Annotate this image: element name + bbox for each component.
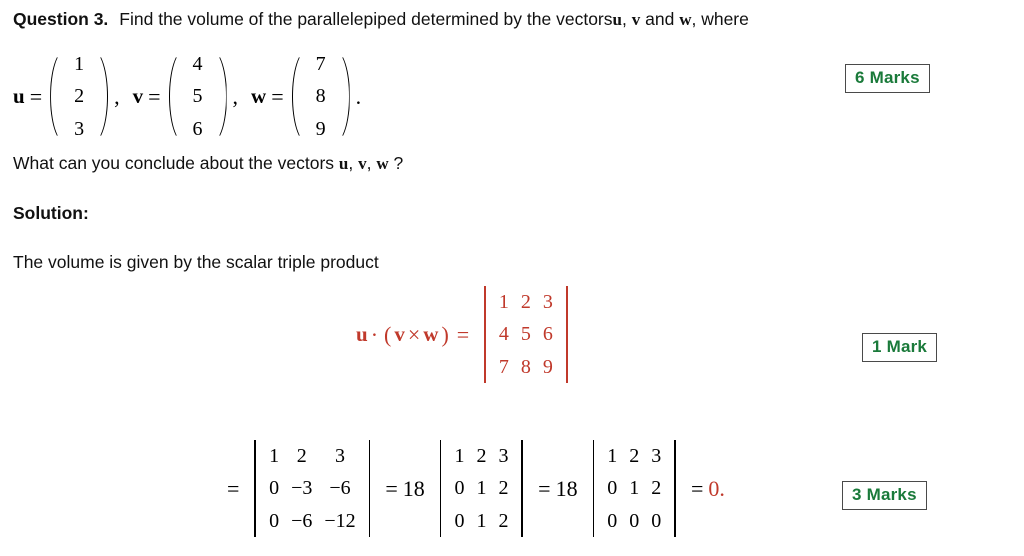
determinant-original-grid: 1 2 3 4 5 6 7 8 9 xyxy=(493,286,559,383)
marks-badge-3-marks: 3 Marks xyxy=(842,481,927,510)
right-paren-icon xyxy=(212,48,228,145)
solution-heading: Solution: xyxy=(13,203,89,225)
worksheet-page: Question 3.Find the volume of the parall… xyxy=(0,0,1024,556)
determinant-bar-left xyxy=(440,440,442,537)
inline-tail: , where xyxy=(691,9,748,29)
det-cell: 0 xyxy=(645,505,667,537)
question-statement: Question 3.Find the volume of the parall… xyxy=(13,9,749,31)
determinant-step-2: 1 2 3 0 1 2 0 1 2 xyxy=(433,440,530,537)
left-paren-icon xyxy=(291,48,307,145)
scalar-triple-product-equation: u · ( v × w ) = 1 2 3 4 5 6 7 8 9 xyxy=(356,286,578,383)
det-cell: 1 xyxy=(448,440,470,472)
triple-dot-operator: · xyxy=(368,322,381,348)
det-cell: 3 xyxy=(329,440,351,472)
det-cell: −6 xyxy=(285,505,318,537)
vector-w-entry-2: 8 xyxy=(313,80,329,112)
det-cell: 2 xyxy=(623,440,645,472)
determinant-bar-left xyxy=(593,440,595,537)
conclude-suffix: ? xyxy=(394,153,404,173)
left-paren-icon xyxy=(49,48,65,145)
det-cell: 0 xyxy=(623,505,645,537)
det-cell: 2 xyxy=(645,472,667,504)
vector-w-entry-3: 9 xyxy=(313,113,329,145)
vector-separator-2: , xyxy=(230,84,242,110)
det-cell: 0 xyxy=(448,472,470,504)
column-vector-u: 1 2 3 xyxy=(49,48,109,145)
determinant-bar-right xyxy=(674,440,676,537)
left-paren-icon xyxy=(168,48,184,145)
det-cell: 4 xyxy=(493,318,515,350)
triple-open-paren: ( xyxy=(381,322,394,348)
det-cell: 1 xyxy=(601,440,623,472)
final-equals-2: = xyxy=(533,476,555,502)
vector-u-entry-2: 2 xyxy=(71,80,87,112)
vector-v-entries: 4 5 6 xyxy=(184,48,212,145)
triple-w: w xyxy=(423,322,438,347)
det-cell: 0 xyxy=(601,505,623,537)
vector-u-entries: 1 2 3 xyxy=(65,48,93,145)
final-factor-1: 18 xyxy=(403,476,430,502)
vector-v-name: v xyxy=(133,84,144,109)
det-cell: 1 xyxy=(470,472,492,504)
marks-badge-6-marks: 6 Marks xyxy=(845,64,930,93)
conclude-vector-w: w xyxy=(376,154,388,173)
det-cell: 0 xyxy=(263,505,285,537)
final-result-value: 0. xyxy=(708,476,730,502)
triple-u: u xyxy=(356,322,368,347)
vector-v-entry-1: 4 xyxy=(190,48,206,80)
marks-badge-1-mark: 1 Mark xyxy=(862,333,937,362)
final-equals-3: = xyxy=(686,476,708,502)
det-cell: 2 xyxy=(470,440,492,472)
conclude-vector-v: v xyxy=(358,154,367,173)
det-cell: 1 xyxy=(470,505,492,537)
question-prompt-text: Find the volume of the parallelepiped de… xyxy=(119,9,612,29)
det-cell: 2 xyxy=(492,505,514,537)
determinant-bar-right xyxy=(521,440,523,537)
conclude-prefix: What can you conclude about the vectors xyxy=(13,153,334,173)
vector-v-equals: = xyxy=(143,84,165,110)
determinant-original: 1 2 3 4 5 6 7 8 9 xyxy=(477,286,574,383)
determinant-bar-left xyxy=(484,286,486,383)
det-cell: −6 xyxy=(323,472,356,504)
determinant-step-1: 1 2 3 0 −3 −6 0 −6 −12 xyxy=(247,440,377,537)
inline-vector-v: v xyxy=(632,10,641,29)
conclude-question-line: What can you conclude about the vectors … xyxy=(13,153,403,175)
vector-definitions-row: u = 1 2 3 , v = 4 5 6 , w = xyxy=(13,48,364,145)
right-paren-icon xyxy=(335,48,351,145)
column-vector-v: 4 5 6 xyxy=(168,48,228,145)
det-cell: −12 xyxy=(318,505,361,537)
determinant-bar-right xyxy=(369,440,371,537)
determinant-step-2-grid: 1 2 3 0 1 2 0 1 2 xyxy=(448,440,514,537)
inline-and: and xyxy=(645,9,674,29)
det-cell: 0 xyxy=(448,505,470,537)
vectors-period: . xyxy=(353,84,365,110)
inline-vector-w: w xyxy=(679,10,691,29)
det-cell: 9 xyxy=(537,351,559,383)
vector-w-name: w xyxy=(251,84,266,109)
det-cell: 2 xyxy=(515,286,537,318)
det-cell: 1 xyxy=(493,286,515,318)
vector-u-entry-3: 3 xyxy=(71,113,87,145)
conclude-comma-2: , xyxy=(367,153,372,173)
triple-v: v xyxy=(394,322,405,347)
determinant-bar-left xyxy=(254,440,256,537)
vector-v-entry-3: 6 xyxy=(190,113,206,145)
vector-u-entry-1: 1 xyxy=(71,48,87,80)
det-cell: 6 xyxy=(537,318,559,350)
det-cell: 8 xyxy=(515,351,537,383)
conclude-vector-u: u xyxy=(339,154,348,173)
vector-u-equals: = xyxy=(25,84,47,110)
inline-vector-u: u xyxy=(613,10,622,29)
conclude-comma-1: , xyxy=(348,153,353,173)
det-cell: 0 xyxy=(263,472,285,504)
det-cell: 1 xyxy=(263,440,285,472)
vector-w-entries: 7 8 9 xyxy=(307,48,335,145)
determinant-step-3: 1 2 3 0 1 2 0 0 0 xyxy=(586,440,683,537)
final-factor-2: 18 xyxy=(556,476,583,502)
det-cell: 3 xyxy=(645,440,667,472)
det-cell: 3 xyxy=(492,440,514,472)
vector-u-name: u xyxy=(13,84,25,109)
determinant-step-3-grid: 1 2 3 0 1 2 0 0 0 xyxy=(601,440,667,537)
det-cell: 2 xyxy=(492,472,514,504)
det-cell: −3 xyxy=(285,472,318,504)
row-reduction-equation: = 1 2 3 0 −3 −6 0 −6 −12 = 18 1 2 3 xyxy=(222,440,730,537)
vector-w-equals: = xyxy=(266,84,288,110)
inline-comma-1: , xyxy=(622,9,627,29)
question-label: Question 3. xyxy=(13,9,108,29)
determinant-step-1-grid: 1 2 3 0 −3 −6 0 −6 −12 xyxy=(263,440,362,537)
triple-close-paren: ) xyxy=(438,322,451,348)
vector-separator-1: , xyxy=(111,84,123,110)
vector-v-entry-2: 5 xyxy=(190,80,206,112)
det-cell: 0 xyxy=(601,472,623,504)
vector-w-entry-1: 7 xyxy=(313,48,329,80)
column-vector-w: 7 8 9 xyxy=(291,48,351,145)
triple-equals: = xyxy=(452,322,474,348)
determinant-bar-right xyxy=(566,286,568,383)
det-cell: 2 xyxy=(291,440,313,472)
det-cell: 1 xyxy=(623,472,645,504)
right-paren-icon xyxy=(93,48,109,145)
final-equals-1: = xyxy=(380,476,402,502)
det-cell: 3 xyxy=(537,286,559,318)
solution-intro-text: The volume is given by the scalar triple… xyxy=(13,252,379,274)
det-cell: 7 xyxy=(493,351,515,383)
final-leading-equals: = xyxy=(222,476,244,502)
triple-cross-operator: × xyxy=(405,322,423,348)
det-cell: 5 xyxy=(515,318,537,350)
